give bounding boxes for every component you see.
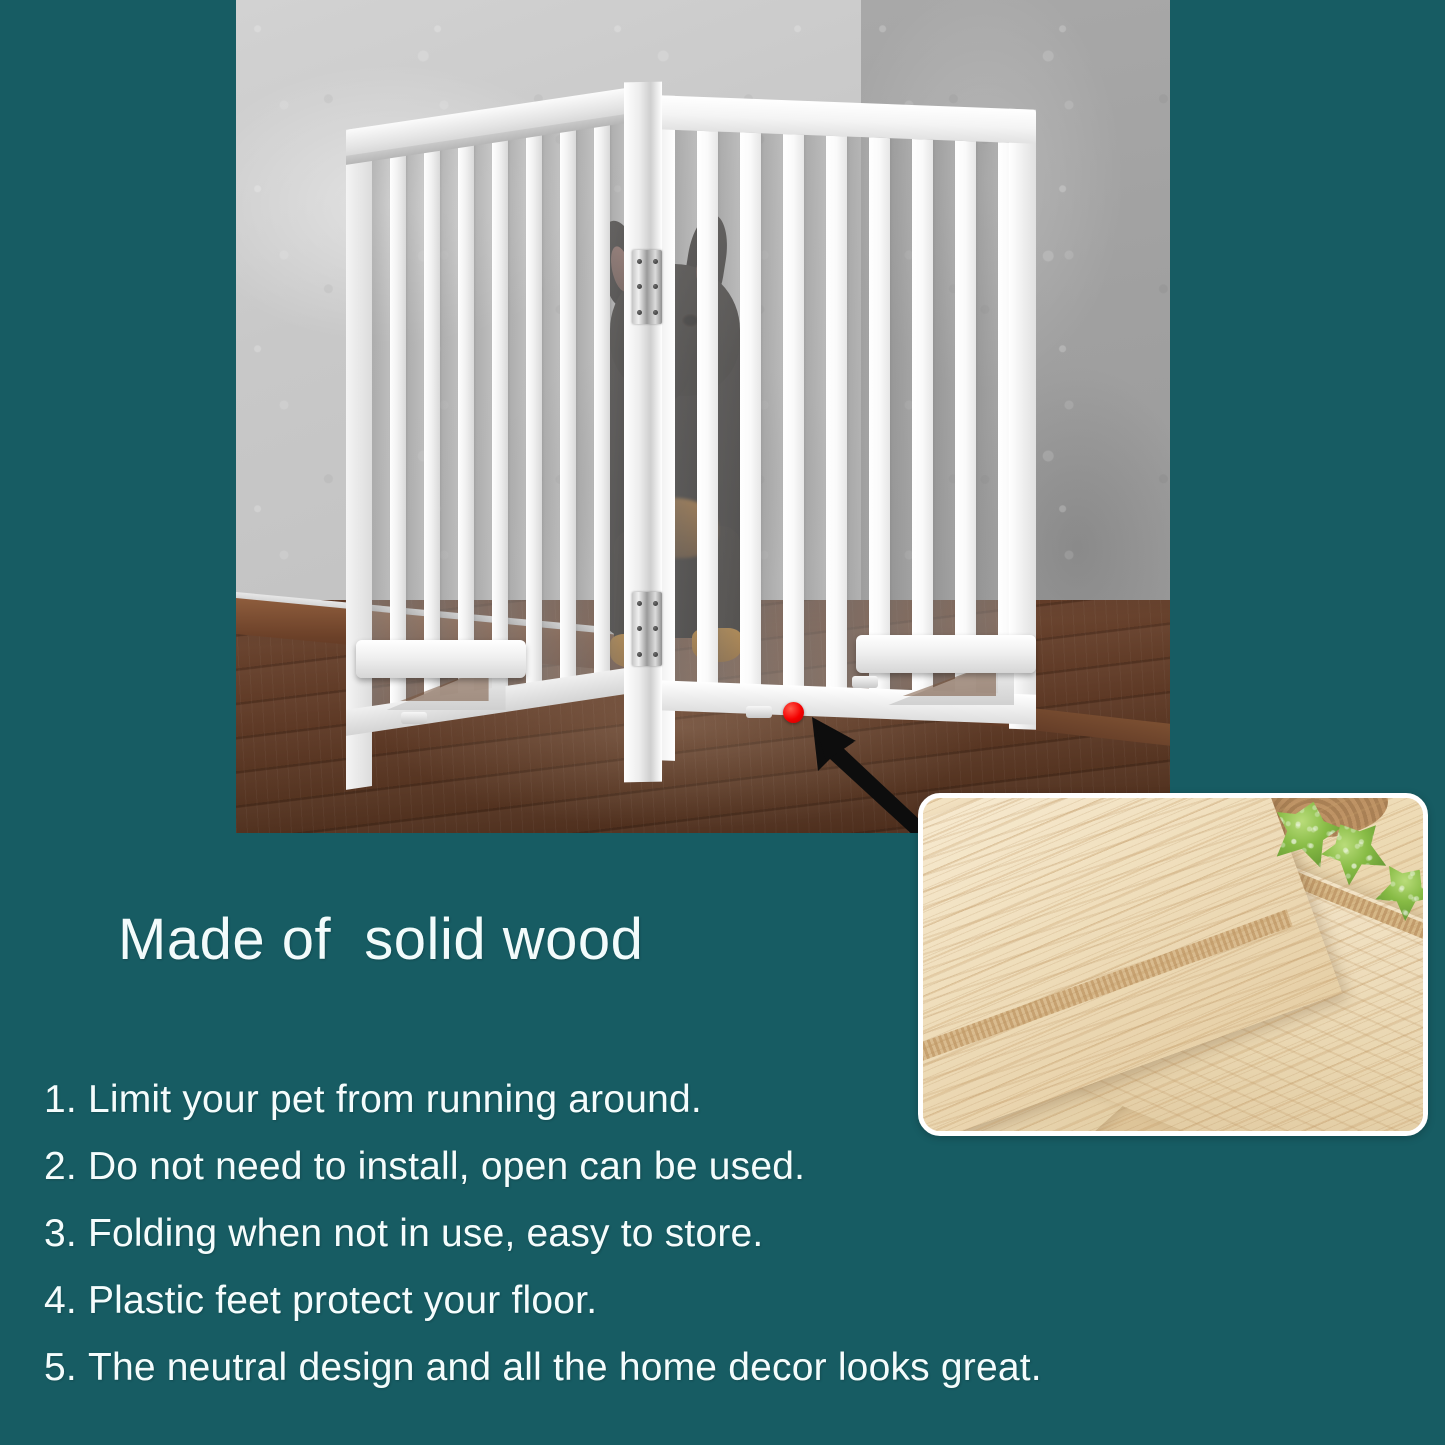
product-infographic: Made of solid wood 1.Limit your pet from… <box>0 0 1445 1445</box>
hinge-screw-icon <box>637 310 642 315</box>
feature-number: 2. <box>44 1145 77 1189</box>
panel-gap <box>933 140 955 693</box>
feature-text: Limit your pet from running around. <box>88 1078 702 1122</box>
panel-gap <box>847 137 869 690</box>
hinge-screw-icon <box>637 652 642 657</box>
gate-slat <box>740 132 761 685</box>
feature-item: 4.Plastic feet protect your floor. <box>44 1279 1324 1346</box>
gate-slat <box>526 133 542 690</box>
panel-gap <box>542 130 560 688</box>
hinge-screw-icon <box>637 626 642 631</box>
panel-right-slats <box>675 130 1009 695</box>
feature-item: 3.Folding when not in use, easy to store… <box>44 1212 1324 1279</box>
feature-item: 2.Do not need to install, open can be us… <box>44 1145 1324 1212</box>
feature-number: 3. <box>44 1212 77 1256</box>
panel-gap <box>976 141 998 694</box>
gate-slat <box>869 137 890 690</box>
gate-slat <box>697 131 718 684</box>
hinge-screw-icon <box>637 601 642 606</box>
hinge-screw-icon <box>653 310 658 315</box>
panel-gap <box>718 132 740 685</box>
gate-slat <box>560 127 576 684</box>
support-foot-left <box>356 640 526 730</box>
feature-text: Folding when not in use, easy to store. <box>88 1212 764 1256</box>
gate-slat <box>783 134 804 687</box>
hinge-screw-icon <box>653 652 658 657</box>
panel-gap <box>508 135 526 693</box>
plastic-floor-pad <box>746 706 772 718</box>
gate-slat <box>458 143 474 700</box>
feature-text: Plastic feet protect your floor. <box>88 1279 597 1323</box>
gate-slat <box>390 153 406 710</box>
feature-number: 5. <box>44 1346 77 1390</box>
support-foot-ramp <box>356 640 526 678</box>
gate-slat <box>955 141 976 694</box>
gate-hinge-column <box>624 82 662 783</box>
panel-gap <box>474 140 492 698</box>
feature-number: 1. <box>44 1078 77 1122</box>
hinge-icon <box>632 250 662 324</box>
wood-material-inset-photo <box>918 793 1428 1136</box>
hinge-screw-icon <box>653 601 658 606</box>
panel-gap <box>406 150 424 708</box>
panel-left-slats <box>372 117 646 713</box>
feature-text: The neutral design and all the home deco… <box>88 1346 1042 1390</box>
gate-slat <box>912 139 933 692</box>
feature-number: 4. <box>44 1279 77 1323</box>
gate-slat <box>424 148 440 705</box>
hinge-icon <box>632 592 662 666</box>
gate-slat <box>492 138 508 695</box>
page-title: Made of solid wood <box>118 906 643 973</box>
panel-gap <box>804 135 826 688</box>
main-product-photo <box>236 0 1170 833</box>
hinge-screw-icon <box>637 284 642 289</box>
feature-item: 5.The neutral design and all the home de… <box>44 1346 1324 1413</box>
hinge-screw-icon <box>653 284 658 289</box>
panel-gap <box>372 155 390 713</box>
panel-gap <box>675 130 697 683</box>
plastic-floor-pad <box>852 676 878 688</box>
panel-gap <box>890 138 912 691</box>
gate-slat <box>594 122 610 679</box>
plastic-floor-pad <box>401 712 427 724</box>
hinge-screw-icon <box>653 626 658 631</box>
panel-gap <box>576 125 594 683</box>
hinge-screw-icon <box>637 259 642 264</box>
support-foot-ramp <box>856 635 1036 673</box>
hinge-screw-icon <box>653 259 658 264</box>
feature-text: Do not need to install, open can be used… <box>88 1145 805 1189</box>
gate-slat <box>826 136 847 689</box>
panel-gap <box>440 145 458 703</box>
panel-gap <box>761 133 783 686</box>
